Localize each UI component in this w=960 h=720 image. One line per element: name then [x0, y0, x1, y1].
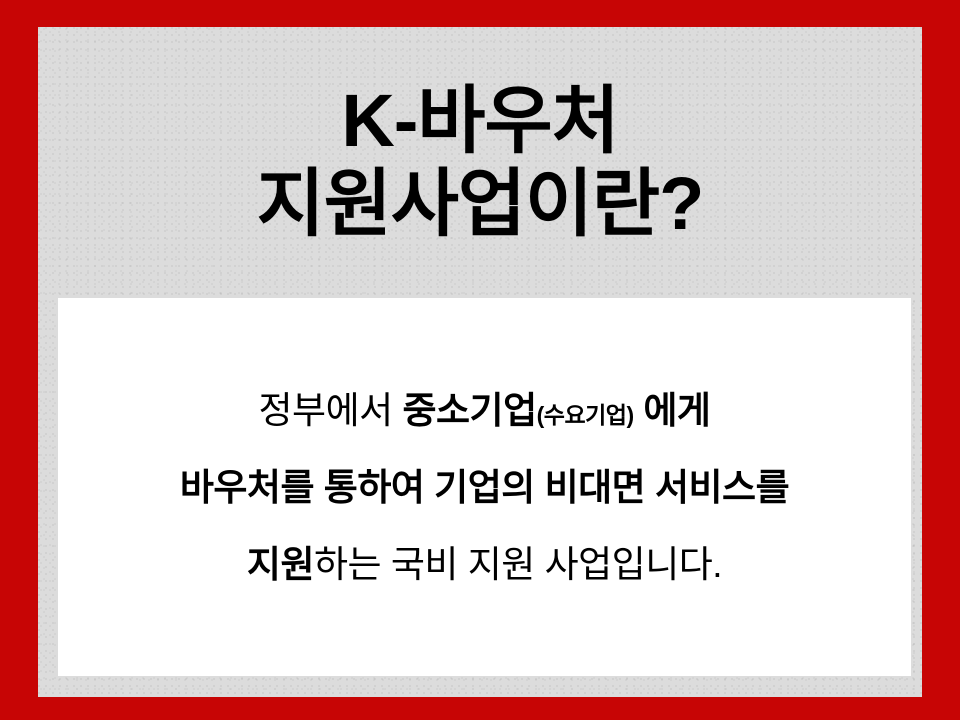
body-line-2-segment-emphasis: 바우처를 통하여 기업의 비대면 서비스를 [180, 467, 789, 508]
body-line-1-segment-paren: (수요기업) [537, 402, 634, 428]
title-line-2: 지원사업이란? [257, 163, 704, 246]
body-line-1: 정부에서 중소기업(수요기업) 에게 [259, 392, 711, 429]
body-line-2: 바우처를 통하여 기업의 비대면 서비스를 [180, 469, 789, 506]
title-line-1: K-바우처 [341, 80, 618, 163]
body-line-3-segment-emphasis: 지원 [247, 544, 314, 585]
body-line-1-segment-emphasis: 중소기업 [402, 390, 536, 431]
body-line-3-segment-normal: 하는 국비 지원 사업입니다. [314, 544, 722, 585]
body-line-3: 지원하는 국비 지원 사업입니다. [247, 546, 722, 583]
slide-root: K-바우처 지원사업이란? 정부에서 중소기업(수요기업) 에게 바우처를 통하… [0, 0, 960, 720]
title-block: K-바우처 지원사업이란? [38, 27, 922, 298]
body-card: 정부에서 중소기업(수요기업) 에게 바우처를 통하여 기업의 비대면 서비스를… [58, 298, 911, 676]
body-line-1-segment-suffix: 에게 [634, 390, 711, 431]
body-line-1-segment-normal: 정부에서 [259, 390, 403, 431]
